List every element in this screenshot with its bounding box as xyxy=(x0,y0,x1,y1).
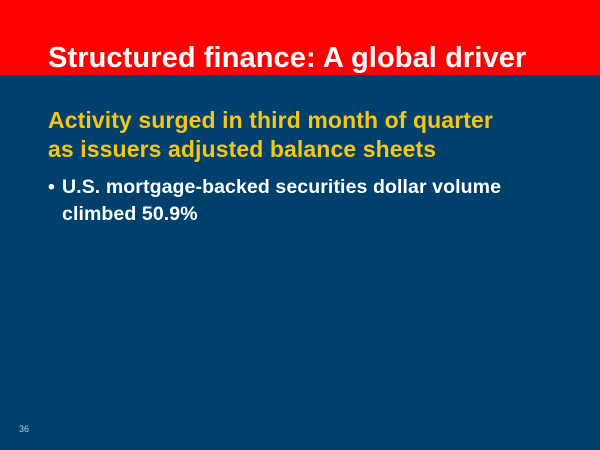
list-item-text: U.S. mortgage-backed securities dollar v… xyxy=(62,174,568,228)
bullet-point-icon: • xyxy=(48,174,55,201)
page-number: 36 xyxy=(19,424,29,435)
subheading-line-2: as issuers adjusted balance sheets xyxy=(48,135,584,164)
page-title: Structured finance: A global driver xyxy=(48,44,526,73)
presentation-slide: Structured finance: A global driver Acti… xyxy=(0,0,600,450)
subheading-line-1: Activity surged in third month of quarte… xyxy=(48,106,584,135)
list-item: • U.S. mortgage-backed securities dollar… xyxy=(48,174,568,228)
subheading: Activity surged in third month of quarte… xyxy=(48,106,584,164)
bullet-list: • U.S. mortgage-backed securities dollar… xyxy=(48,174,568,228)
